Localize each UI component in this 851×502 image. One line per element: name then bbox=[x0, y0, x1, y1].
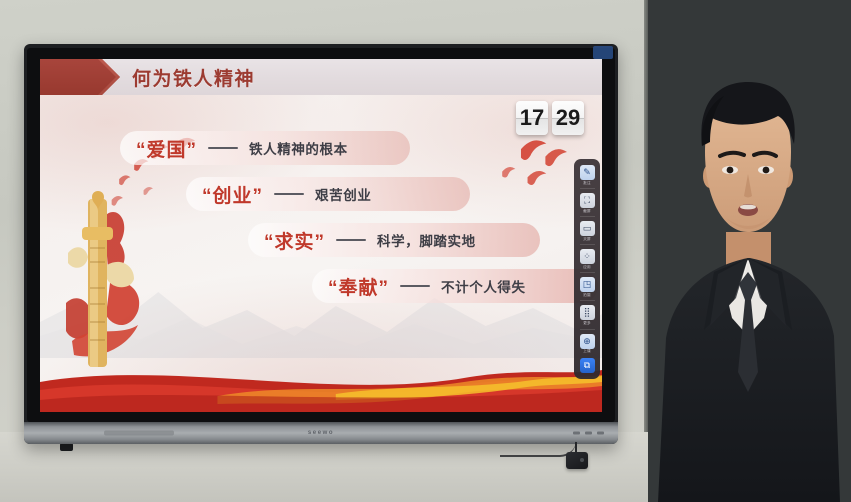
content-row: “奉献” 不计个人得失 bbox=[312, 269, 598, 303]
toolbar-label: 应用 bbox=[583, 266, 591, 270]
toolbar-item-window[interactable]: ▭ 灭屏 bbox=[574, 219, 600, 242]
row-description: 艰苦创业 bbox=[315, 184, 371, 204]
dash-separator-icon bbox=[336, 239, 366, 241]
window-icon: ▭ bbox=[580, 221, 595, 236]
chevron-badge-icon bbox=[40, 59, 120, 95]
toolbar-label: 批注 bbox=[583, 182, 591, 186]
toolbar-item-apps[interactable]: ⁘ 应用 bbox=[574, 247, 600, 270]
dash-separator-icon bbox=[274, 193, 304, 195]
smart-display: 何为铁人精神 17 29 “爱国” 铁人精神的根本 “创业” bbox=[24, 44, 618, 444]
toolbar-label: 灭屏 bbox=[583, 238, 591, 242]
toolbar-label: 更多 bbox=[583, 322, 591, 326]
screenshot-icon: ⛶ bbox=[580, 193, 595, 208]
row-keyword: “奉献” bbox=[328, 273, 389, 300]
dash-separator-icon bbox=[400, 285, 430, 287]
clock-minutes: 29 bbox=[552, 101, 584, 135]
clock-hours: 17 bbox=[516, 101, 548, 135]
dash-separator-icon bbox=[208, 147, 238, 149]
row-description: 不计个人得失 bbox=[441, 276, 526, 296]
display-bezel: 何为铁人精神 17 29 “爱国” 铁人精神的根本 “创业” bbox=[27, 48, 615, 422]
toolbar-item-class[interactable]: ⊕ 上课 bbox=[574, 332, 600, 355]
toolbar-divider bbox=[580, 244, 595, 245]
content-row: “求实” 科学，脚踏实地 bbox=[248, 223, 540, 257]
red-ribbon-banner bbox=[40, 356, 602, 412]
seewo-launcher-icon: ⧉ bbox=[580, 358, 595, 373]
content-row: “爱国” 铁人精神的根本 bbox=[120, 131, 410, 165]
toolbar-divider bbox=[580, 188, 595, 189]
hanging-cable bbox=[500, 441, 576, 457]
toolbar-item-annotate[interactable]: ✎ 批注 bbox=[574, 163, 600, 186]
toolbar-launcher-button[interactable]: ⧉ bbox=[574, 356, 600, 374]
row-keyword: “爱国” bbox=[136, 135, 197, 162]
more-dots-icon: ⣿ bbox=[580, 305, 595, 320]
toolbar-label: 上课 bbox=[583, 350, 591, 354]
ir-receiver-device bbox=[566, 452, 588, 469]
toolbar-divider bbox=[580, 329, 595, 330]
display-brand-logo: seewo bbox=[308, 430, 334, 436]
wall-outlet bbox=[60, 443, 73, 451]
display-control-buttons[interactable] bbox=[573, 432, 604, 435]
pencil-icon: ✎ bbox=[580, 165, 595, 180]
display-corner-badge bbox=[593, 46, 613, 59]
row-keyword: “求实” bbox=[264, 227, 325, 254]
class-start-icon: ⊕ bbox=[580, 334, 595, 349]
presentation-slide: 何为铁人精神 17 29 “爱国” 铁人精神的根本 “创业” bbox=[40, 59, 602, 412]
toolbar-item-screenshot[interactable]: ⛶ 截屏 bbox=[574, 191, 600, 214]
seewo-side-toolbar[interactable]: ✎ 批注 ⛶ 截屏 ▭ 灭屏 ⁘ bbox=[574, 159, 600, 379]
row-keyword: “创业” bbox=[202, 181, 263, 208]
row-description: 科学，脚踏实地 bbox=[377, 230, 476, 250]
toolbar-divider bbox=[580, 272, 595, 273]
toolbar-label: 拍摄 bbox=[583, 294, 591, 298]
classroom-scene: 何为铁人精神 17 29 “爱国” 铁人精神的根本 “创业” bbox=[0, 0, 851, 502]
toolbar-item-capture[interactable]: ◳ 拍摄 bbox=[574, 275, 600, 298]
flip-clock: 17 29 bbox=[516, 101, 584, 135]
content-row: “创业” 艰苦创业 bbox=[186, 177, 470, 211]
presenter-person bbox=[648, 0, 851, 502]
apps-grid-icon: ⁘ bbox=[580, 249, 595, 264]
toolbar-label: 截屏 bbox=[583, 210, 591, 214]
slide-title-bar: 何为铁人精神 bbox=[40, 59, 602, 95]
toolbar-divider bbox=[580, 216, 595, 217]
toolbar-item-more[interactable]: ⣿ 更多 bbox=[574, 303, 600, 326]
slide-title: 何为铁人精神 bbox=[132, 64, 255, 91]
speaker-grille bbox=[104, 431, 174, 436]
toolbar-divider bbox=[580, 300, 595, 301]
camera-icon: ◳ bbox=[580, 277, 595, 292]
row-description: 铁人精神的根本 bbox=[249, 138, 348, 158]
